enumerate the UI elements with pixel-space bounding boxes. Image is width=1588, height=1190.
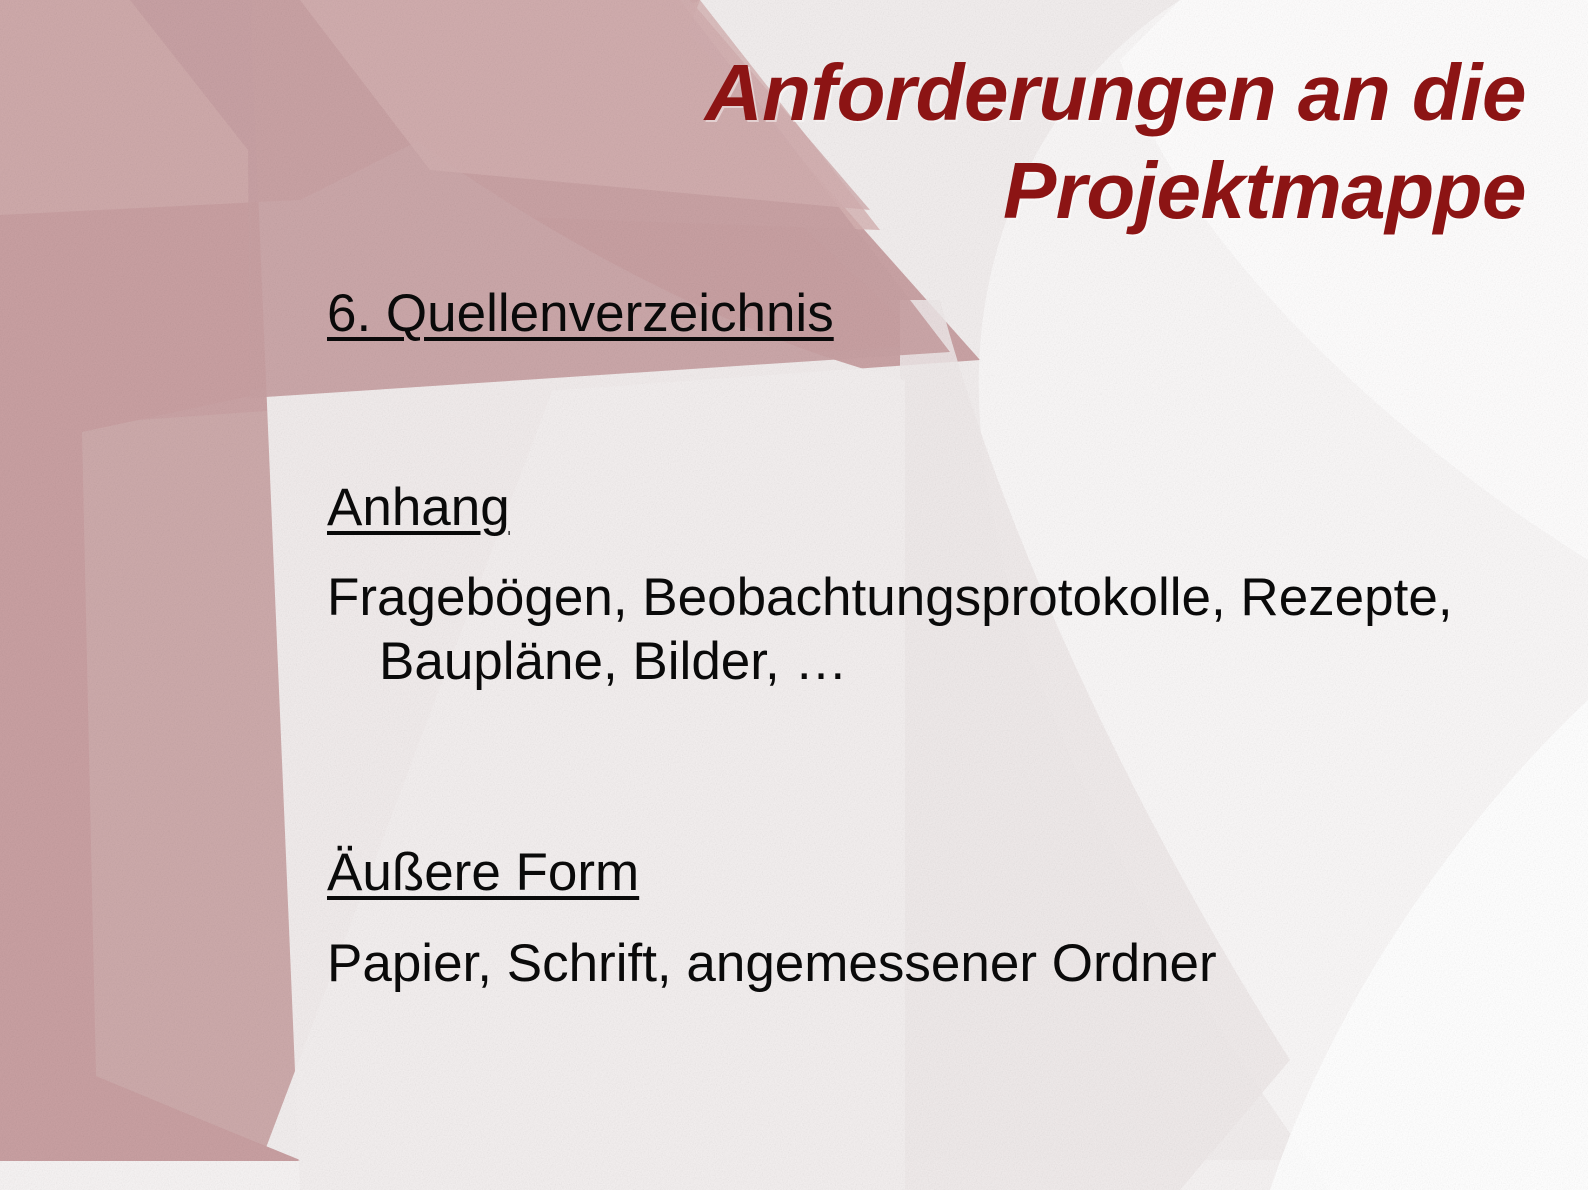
slide-body: 6. Quellenverzeichnis Anhang Fragebögen,… (327, 282, 1512, 996)
section-aeussere-form-body: Papier, Schrift, angemessener Ordner (327, 932, 1512, 996)
spacer (327, 905, 1512, 932)
slide-title-line-2: Projektmappe (426, 142, 1526, 240)
section-quellenverzeichnis: 6. Quellenverzeichnis (327, 282, 1512, 346)
spacer (327, 346, 1512, 476)
presentation-slide: Anforderungen an die Projektmappe 6. Que… (0, 0, 1588, 1190)
slide-title: Anforderungen an die Projektmappe (426, 44, 1526, 239)
section-aeussere-form-heading: Äußere Form (327, 841, 1512, 905)
section-anhang-body: Fragebögen, Beobachtungsprotokolle, Reze… (327, 566, 1512, 693)
spacer (327, 693, 1512, 841)
spacer (327, 539, 1512, 566)
section-anhang-heading: Anhang (327, 476, 1512, 540)
slide-title-line-1: Anforderungen an die (426, 44, 1526, 142)
